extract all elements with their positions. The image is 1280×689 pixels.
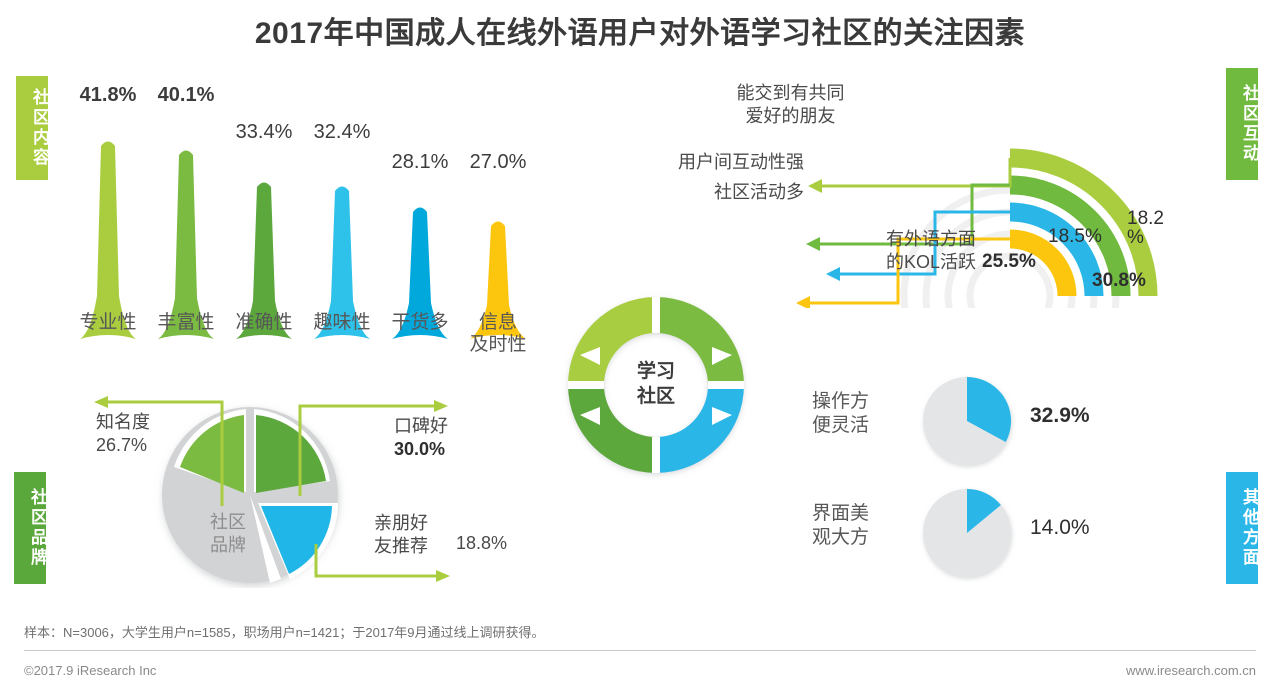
mini-pie-label-line2: 观大方 [812,526,908,550]
bar-value-label: 33.4% [228,121,300,144]
pie-callout-label-line1: 亲朋好 [374,512,450,535]
mini-pie-label: 界面美 观大方 [812,502,908,551]
pie-callout-value-text: 30.0% [394,439,445,459]
mini-pie-row-operation: 操作方 便灵活 32.9% [812,374,1152,470]
mini-pie-label: 操作方 便灵活 [812,390,908,439]
arc-label-common-hobby-friends: 能交到有共同 爱好的朋友 [708,82,873,128]
arc-label-line2: 的KOL活跃 [866,251,996,274]
arc-value-line2: % [1127,228,1164,247]
arc-value-30-8: 30.8% [1092,270,1146,292]
website-url[interactable]: www.iresearch.com.cn [1126,663,1256,678]
pie-callout-value: 26.7% [96,434,201,457]
copyright-text: ©2017.9 iResearch Inc [24,663,156,678]
bar-column: 40.1% [150,84,222,344]
pie-callout-value: 30.0% [394,438,504,461]
bar-chart-community-content: 41.8% 40.1% 33.4% [72,84,542,344]
category-tab-community-brand: 社区品牌 [14,472,46,584]
mini-pie-row-interface: 界面美 观大方 14.0% [812,486,1152,582]
bar-column: 33.4% [228,84,300,344]
footer-divider [24,650,1256,651]
infographic-page: 2017年中国成人在线外语用户对外语学习社区的关注因素 社区内容 社区互动 社区… [0,0,1280,689]
center-donut-learning-community: 学习 社区 [556,285,756,485]
mini-pie-label-line2: 便灵活 [812,414,908,438]
arc-label-line2: 爱好的朋友 [708,105,873,128]
bar-column: 41.8% [72,84,144,344]
bar-column: 27.0% [462,84,534,344]
arc-label-kol-active: 有外语方面 的KOL活跃 [866,228,996,274]
mini-pie-value: 32.9% [1030,404,1090,428]
arc-value-18-5: 18.5% [1048,226,1102,248]
mini-pie-label-line1: 界面美 [812,502,908,526]
pie-callout-reputation: 口碑好 30.0% [394,415,504,462]
pie-callout-awareness: 知名度 26.7% [96,411,201,458]
bar-value-label: 40.1% [150,84,222,107]
pie-callout-label: 知名度 [96,411,201,434]
bar-label: 准确性 [225,312,303,334]
pie-callout-referral-label: 亲朋好 友推荐 [374,512,450,559]
bar-label: 趣味性 [303,312,381,334]
pie-callout-referral-value: 18.8% [456,532,507,555]
bar-value-label: 27.0% [462,151,534,174]
category-tab-community-content: 社区内容 [16,76,48,180]
arc-value-25-5: 25.5% [982,251,1036,273]
bar-value-label: 41.8% [72,84,144,107]
bar-label-line1: 信息 [459,312,537,334]
bar-value-label: 28.1% [384,151,456,174]
pie-callout-label: 口碑好 [394,415,504,438]
mini-pie-svg [920,486,1016,582]
bar-label: 专业性 [69,312,147,334]
bar-column: 28.1% [384,84,456,344]
category-tab-community-interaction: 社区互动 [1226,68,1258,180]
arc-value-18-2: 18.2 % [1127,209,1164,247]
bar-value-label: 32.4% [306,121,378,144]
arc-label-user-interaction: 用户间互动性强 [674,151,804,174]
sample-note: 样本：N=3006，大学生用户n=1585，职场用户n=1421；于2017年9… [24,622,1174,641]
category-tab-other-aspects: 其他方面 [1226,472,1258,584]
donut-svg [556,285,756,485]
bar-column: 32.4% [306,84,378,344]
mini-pie-label-line1: 操作方 [812,390,908,414]
mini-pie-value: 14.0% [1030,516,1090,540]
arc-label-many-activities: 社区活动多 [694,181,804,204]
mini-pie-svg [920,374,1016,470]
arc-label-line1: 能交到有共同 [708,82,873,105]
bar-label: 信息 及时性 [459,312,537,357]
pie-callout-label-line2: 友推荐 [374,535,450,558]
bar-label-line2: 及时性 [459,334,537,356]
bar-chart-axis-labels: 专业性 丰富性 准确性 趣味性 干货多 信息 及时性 [72,312,552,382]
arc-label-line1: 有外语方面 [866,228,996,251]
arc-value-line1: 18.2 [1127,209,1164,228]
page-title: 2017年中国成人在线外语用户对外语学习社区的关注因素 [0,8,1280,52]
arc-chart-community-interaction: 能交到有共同 爱好的朋友 用户间互动性强 社区活动多 有外语方面 的KOL活跃 … [680,78,1190,308]
bar-label: 丰富性 [147,312,225,334]
bar-label: 干货多 [381,312,459,334]
